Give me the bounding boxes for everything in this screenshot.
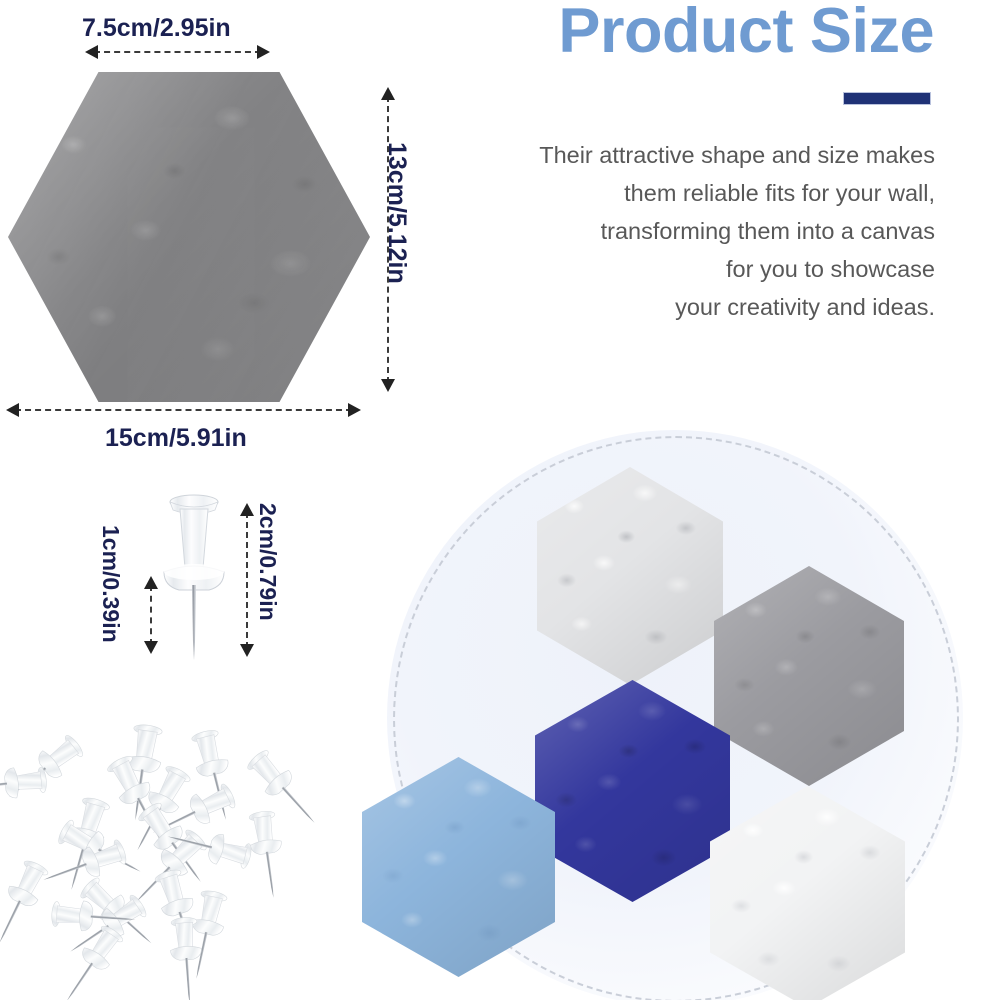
cluster-hexagon-white bbox=[710, 786, 905, 1000]
dimension-arrow-top-width bbox=[85, 42, 270, 62]
arrow-head-down bbox=[144, 641, 158, 654]
arrow-head-right bbox=[348, 403, 361, 417]
dimension-label-top-width: 7.5cm/2.95in bbox=[82, 14, 231, 43]
hexagon-face bbox=[362, 757, 555, 977]
clear-push-pin-pile bbox=[0, 700, 330, 1000]
hexagon-face bbox=[537, 467, 723, 685]
arrow-head-left bbox=[85, 45, 98, 59]
dimension-label-height: 13cm/5.12in bbox=[382, 142, 411, 284]
dimension-label-pin-needle: 1cm/0.39in bbox=[97, 525, 124, 643]
page-title: Product Size bbox=[440, 0, 940, 64]
clear-push-pin bbox=[152, 492, 236, 664]
description-line-2: them reliable fits for your wall, bbox=[455, 174, 935, 212]
dimension-label-full-width: 15cm/5.91in bbox=[105, 424, 247, 453]
arrow-head-up bbox=[381, 87, 395, 100]
description-line-1: Their attractive shape and size makes bbox=[455, 136, 935, 174]
description-line-5: your creativity and ideas. bbox=[455, 288, 935, 326]
description-text: Their attractive shape and size makes th… bbox=[455, 136, 935, 326]
arrow-line bbox=[246, 512, 248, 648]
hexagon-face bbox=[8, 72, 370, 402]
arrow-line bbox=[15, 409, 352, 411]
description-line-3: transforming them into a canvas bbox=[455, 212, 935, 250]
gray-felt-hexagon-board bbox=[8, 72, 370, 402]
arrow-head-right bbox=[257, 45, 270, 59]
hexagon-sheen bbox=[362, 757, 555, 977]
dimension-arrow-full-width bbox=[6, 400, 361, 420]
dimension-arrow-pin-needle bbox=[141, 576, 161, 654]
cluster-hexagon-dark-gray bbox=[714, 566, 904, 786]
cluster-hexagon-light-gray bbox=[537, 467, 723, 685]
arrow-head-down bbox=[240, 644, 254, 657]
description-line-4: for you to showcase bbox=[455, 250, 935, 288]
arrow-line bbox=[150, 585, 152, 645]
hexagon-sheen bbox=[537, 467, 723, 685]
arrow-head-left bbox=[6, 403, 19, 417]
push-pin-pile-illustration bbox=[0, 700, 330, 1000]
hexagon-face bbox=[535, 680, 730, 902]
product-size-infographic: Product Size Their attractive shape and … bbox=[0, 0, 981, 1000]
headline-block: Product Size bbox=[440, 0, 940, 64]
arrow-head-down bbox=[381, 379, 395, 392]
hexagon-sheen bbox=[710, 786, 905, 1000]
dimension-label-pin-height: 2cm/0.79in bbox=[254, 503, 281, 621]
hexagon-sheen bbox=[714, 566, 904, 786]
arrow-head-up bbox=[240, 503, 254, 516]
hexagon-face bbox=[710, 786, 905, 1000]
hexagon-sheen bbox=[535, 680, 730, 902]
cluster-hexagon-light-blue bbox=[362, 757, 555, 977]
push-pin-icon bbox=[152, 492, 236, 664]
accent-bar bbox=[843, 92, 931, 105]
cluster-hexagon-navy-blue bbox=[535, 680, 730, 902]
hexagon-face bbox=[714, 566, 904, 786]
hexagon-sheen bbox=[8, 72, 370, 402]
arrow-line bbox=[94, 51, 261, 53]
arrow-head-up bbox=[144, 576, 158, 589]
